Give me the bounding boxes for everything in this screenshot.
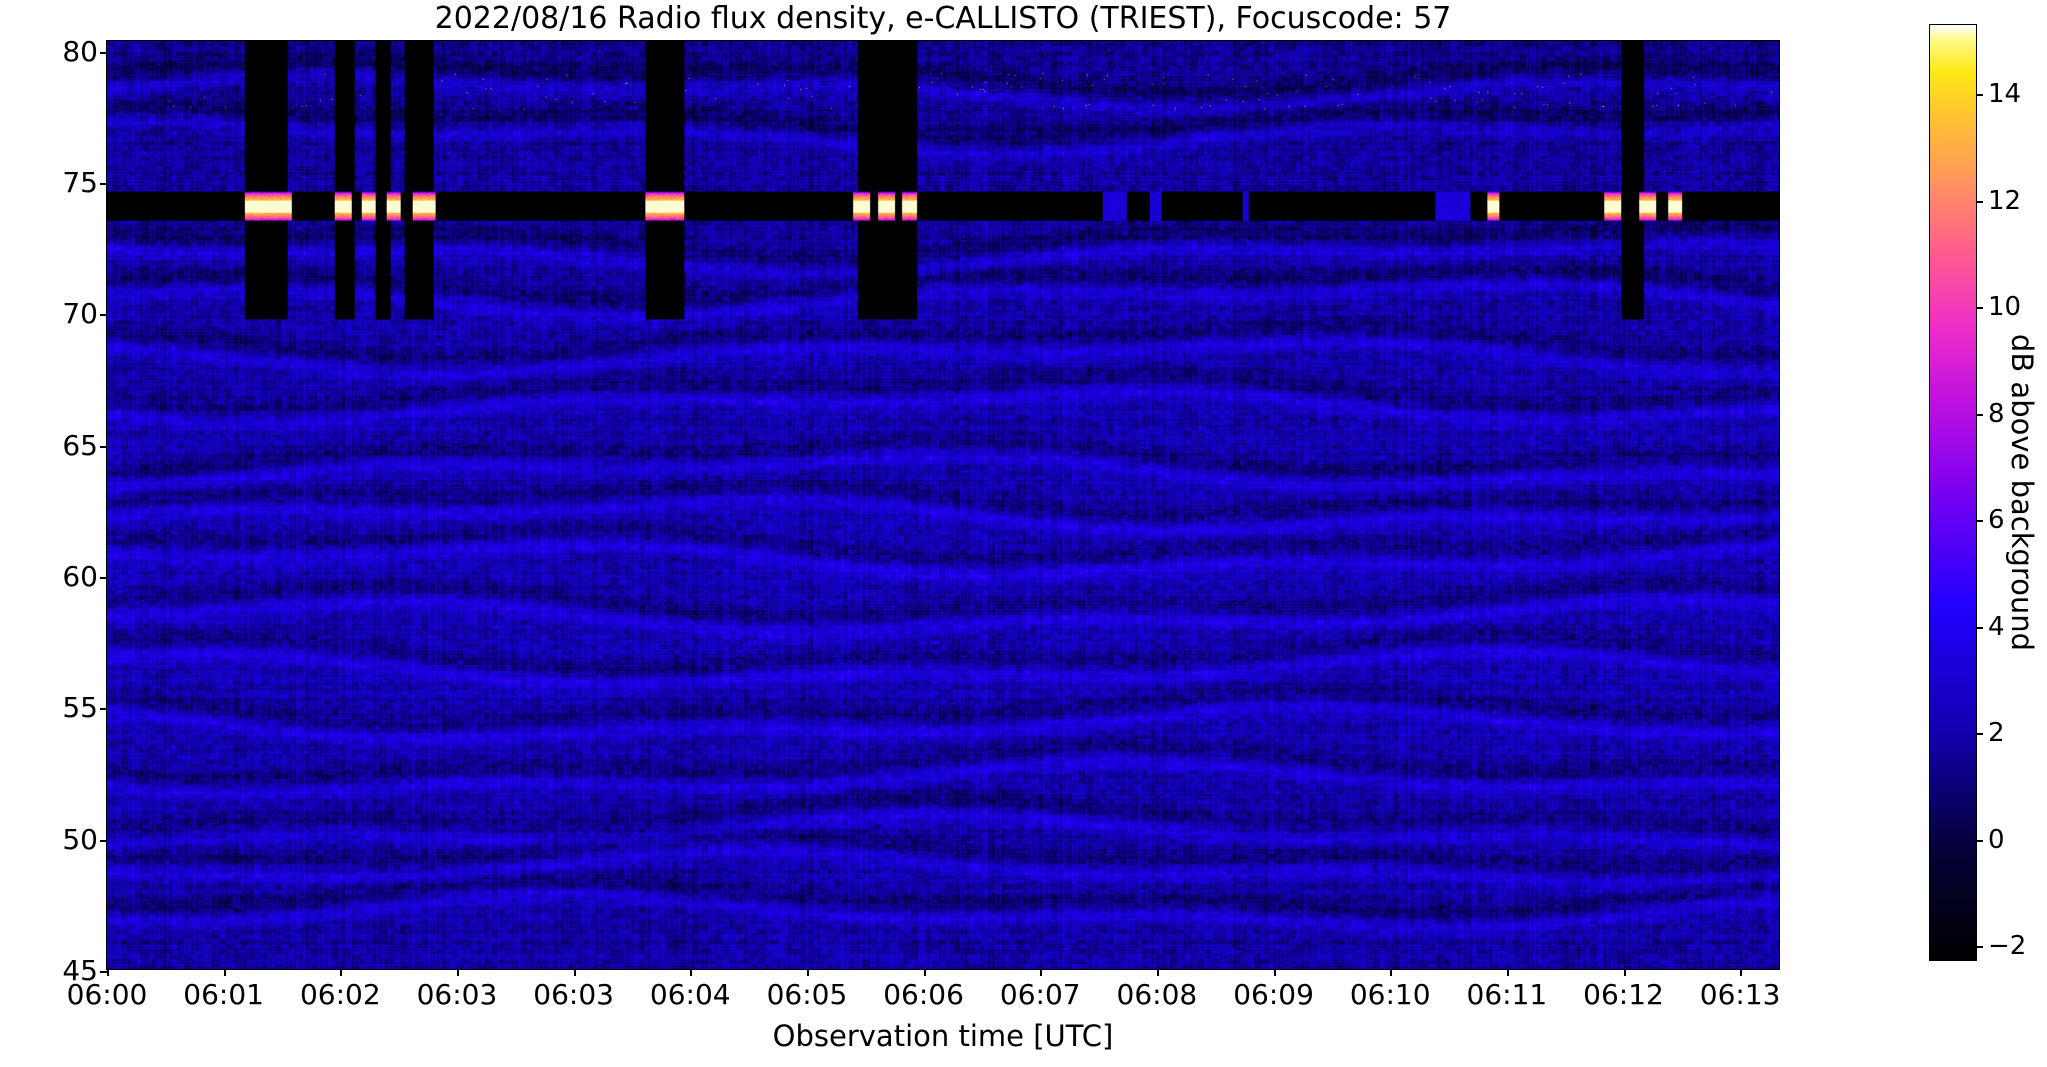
y-axis-label-wrapper: Frequency [MHz] (8, 40, 48, 970)
y-tick-mark (100, 52, 107, 54)
x-tick-label: 06:10 (1350, 981, 1431, 1009)
x-tick-mark (924, 969, 926, 976)
colorbar-axes: 14121086420−2 (1929, 24, 1977, 961)
x-tick-mark (224, 969, 226, 976)
x-tick-label: 06:01 (183, 981, 264, 1009)
figure-canvas: 2022/08/16 Radio flux density, e-CALLIST… (0, 0, 2047, 1067)
x-tick-label: 06:13 (1700, 981, 1781, 1009)
colorbar-gradient (1930, 25, 1976, 960)
x-tick-label: 06:12 (1583, 981, 1664, 1009)
y-tick-mark (100, 577, 107, 579)
colorbar-tick-mark (1976, 733, 1983, 735)
x-tick-mark (1040, 969, 1042, 976)
x-tick-mark (1390, 969, 1392, 976)
y-tick-mark (100, 708, 107, 710)
x-tick-label: 06:02 (300, 981, 381, 1009)
y-tick-label: 55 (62, 694, 98, 722)
x-tick-mark (574, 969, 576, 976)
x-tick-label: 06:04 (650, 981, 731, 1009)
y-tick-mark (100, 971, 107, 973)
colorbar-tick-mark (1976, 414, 1983, 416)
spectrogram-axes: 8075706560555045 06:0006:0106:0206:0306:… (106, 40, 1780, 970)
y-tick-label: 75 (62, 169, 98, 197)
x-tick-mark (690, 969, 692, 976)
spectrogram-heatmap (107, 41, 1779, 969)
y-axis-label: Frequency [MHz] (0, 0, 40, 80)
y-tick-mark (100, 446, 107, 448)
x-tick-label: 06:11 (1467, 981, 1548, 1009)
colorbar-tick-mark (1976, 201, 1983, 203)
y-tick-label: 50 (62, 826, 98, 854)
colorbar-tick-mark (1976, 94, 1983, 96)
colorbar-label-wrapper: dB above background (2000, 24, 2044, 961)
colorbar-tick-mark (1976, 520, 1983, 522)
x-tick-mark (107, 969, 109, 976)
x-tick-label: 06:00 (67, 981, 148, 1009)
y-tick-label: 60 (62, 563, 98, 591)
x-tick-mark (1157, 969, 1159, 976)
colorbar-label: dB above background (2000, 24, 2044, 961)
x-tick-mark (1507, 969, 1509, 976)
x-tick-mark (807, 969, 809, 976)
y-tick-mark (100, 183, 107, 185)
y-tick-mark (100, 314, 107, 316)
y-tick-label: 65 (62, 432, 98, 460)
x-tick-mark (1740, 969, 1742, 976)
x-axis-label: Observation time [UTC] (106, 1019, 1780, 1053)
colorbar-tick-mark (1976, 946, 1983, 948)
y-tick-mark (100, 840, 107, 842)
x-tick-label: 06:08 (1117, 981, 1198, 1009)
x-tick-label: 06:06 (883, 981, 964, 1009)
colorbar-tick-mark (1976, 627, 1983, 629)
x-tick-label: 06:03 (533, 981, 614, 1009)
y-tick-label: 80 (62, 38, 98, 66)
colorbar-tick-mark (1976, 307, 1983, 309)
x-tick-mark (1624, 969, 1626, 976)
y-tick-label: 70 (62, 300, 98, 328)
x-tick-mark (340, 969, 342, 976)
x-tick-label: 06:09 (1233, 981, 1314, 1009)
figure-title: 2022/08/16 Radio flux density, e-CALLIST… (106, 2, 1780, 36)
x-tick-mark (457, 969, 459, 976)
x-tick-label: 06:07 (1000, 981, 1081, 1009)
x-tick-label: 06:05 (767, 981, 848, 1009)
colorbar-tick-mark (1976, 840, 1983, 842)
x-tick-mark (1274, 969, 1276, 976)
x-tick-label: 06:03 (417, 981, 498, 1009)
